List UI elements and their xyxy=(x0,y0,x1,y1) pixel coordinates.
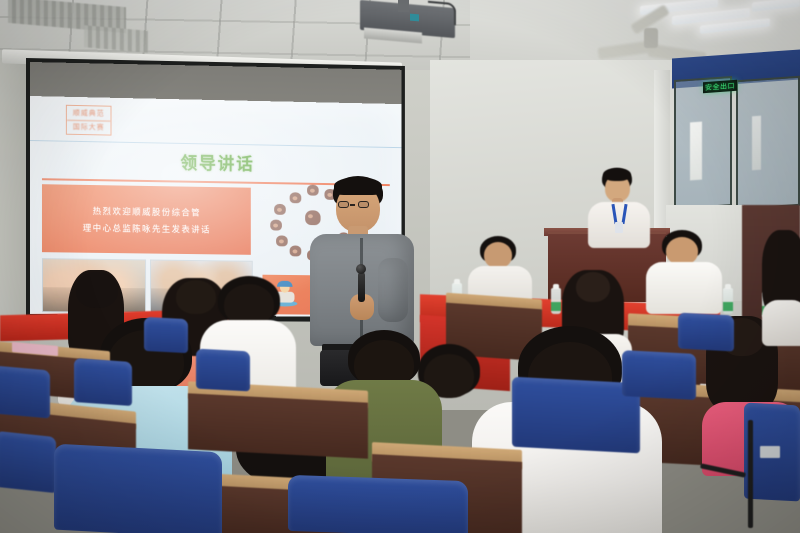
audience-shirt xyxy=(646,262,722,314)
chair xyxy=(678,313,734,352)
chair xyxy=(0,431,56,493)
slide-banner-line-2: 理中心总监陈咏先生发表讲话 xyxy=(83,221,211,235)
slide-logo: 顺威典范 国际大赛 xyxy=(66,105,112,136)
desk-front-panel xyxy=(188,393,368,458)
chair xyxy=(144,317,188,353)
presenter-glasses-bridge xyxy=(350,204,355,206)
microphone-head-icon xyxy=(356,264,366,274)
audience-member xyxy=(646,230,722,310)
projector-port-icon xyxy=(410,14,419,22)
attendant-badge xyxy=(615,222,623,233)
water-bottle xyxy=(723,288,733,314)
fan-hub-icon xyxy=(644,28,658,48)
chair xyxy=(512,377,640,454)
chair xyxy=(54,444,222,533)
slide-logo-line-1: 顺威典范 xyxy=(67,106,111,120)
glass-panel xyxy=(674,76,732,210)
exit-sign-label: 安全出口 xyxy=(705,80,735,92)
presenter-glasses-right-lens xyxy=(358,201,369,208)
presenter-glasses-left-lens xyxy=(338,201,349,208)
glass-panel xyxy=(736,76,800,210)
glass-reflection xyxy=(690,122,702,181)
chair xyxy=(288,475,468,533)
slide-welcome-banner: 热烈欢迎顺威股份综合管 理中心总监陈咏先生发表讲话 xyxy=(42,184,251,255)
glass-reflection xyxy=(752,116,761,171)
chair-label xyxy=(760,446,780,458)
audience-head xyxy=(666,237,698,265)
chair xyxy=(0,366,50,419)
presenter-right-arm xyxy=(378,258,408,322)
slide-title: 领导讲话 xyxy=(180,149,254,175)
projector-mount-icon xyxy=(398,0,409,12)
audience-member xyxy=(762,230,800,340)
conference-room-photo: 安全出口 顺威典范 国际大赛 领导讲话 热烈欢迎顺威股份综合管 理中心总监陈咏先… xyxy=(0,0,800,533)
chair xyxy=(74,358,132,406)
chair-leg xyxy=(748,420,753,528)
audience-head xyxy=(576,272,610,302)
audience-head xyxy=(484,242,512,268)
chair xyxy=(622,350,696,400)
slide-logo-line-2: 国际大赛 xyxy=(67,119,111,134)
microphone xyxy=(358,272,365,302)
slide-divider-blue xyxy=(30,140,401,148)
projector-cable-icon xyxy=(428,1,456,25)
presenter-hair-front xyxy=(334,177,382,195)
chair xyxy=(196,349,250,392)
attendant-hair-top xyxy=(603,168,631,181)
audience-head xyxy=(76,272,118,308)
audience-shirt xyxy=(762,300,800,346)
slide-banner-line-1: 热烈欢迎顺威股份综合管 xyxy=(93,204,201,218)
